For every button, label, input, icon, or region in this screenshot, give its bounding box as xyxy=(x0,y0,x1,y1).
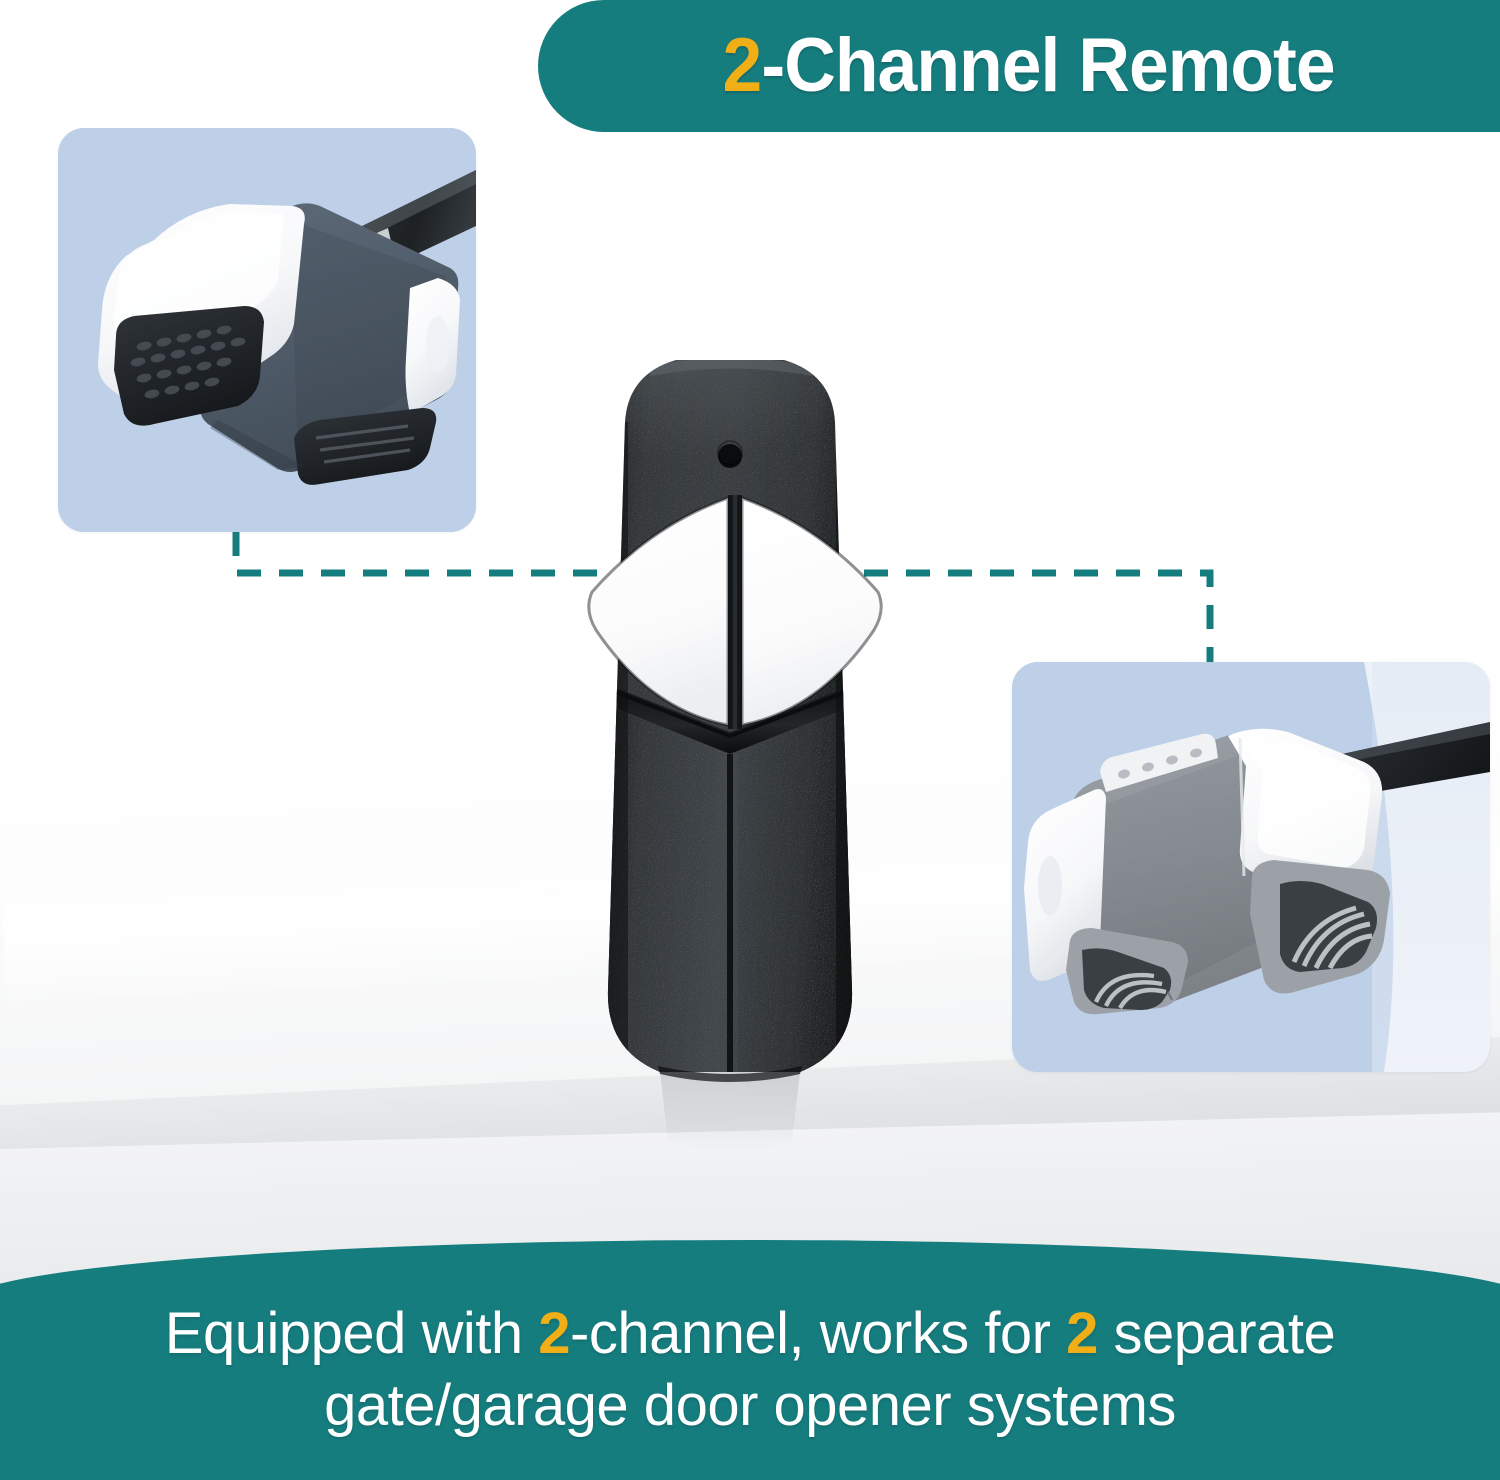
footer-line1-part3: separate xyxy=(1098,1301,1335,1366)
footer-line1-part2: -channel, works for xyxy=(570,1301,1066,1366)
header-title-rest: -Channel Remote xyxy=(762,23,1335,108)
footer-caption: Equipped with 2-channel, works for 2 sep… xyxy=(0,1298,1500,1442)
footer-line1-part1: Equipped with xyxy=(165,1301,538,1366)
footer-banner: Equipped with 2-channel, works for 2 sep… xyxy=(0,1240,1500,1480)
footer-caption-line-1: Equipped with 2-channel, works for 2 sep… xyxy=(20,1298,1480,1370)
footer-line1-number-1: 2 xyxy=(538,1301,570,1366)
header-title-highlight: 2 xyxy=(723,23,762,108)
footer-caption-line-2: gate/garage door opener systems xyxy=(20,1370,1480,1442)
product-marketing-image: 2-Channel Remote Equipped with 2-channel… xyxy=(0,0,1500,1480)
page-title: 2-Channel Remote xyxy=(723,28,1335,104)
inset-photo-opener-top-left xyxy=(58,128,476,532)
header-banner: 2-Channel Remote xyxy=(538,0,1500,132)
inset-photo-opener-bottom-right xyxy=(1012,662,1490,1072)
footer-line1-number-2: 2 xyxy=(1066,1301,1098,1366)
remote-control-product xyxy=(500,330,960,1130)
